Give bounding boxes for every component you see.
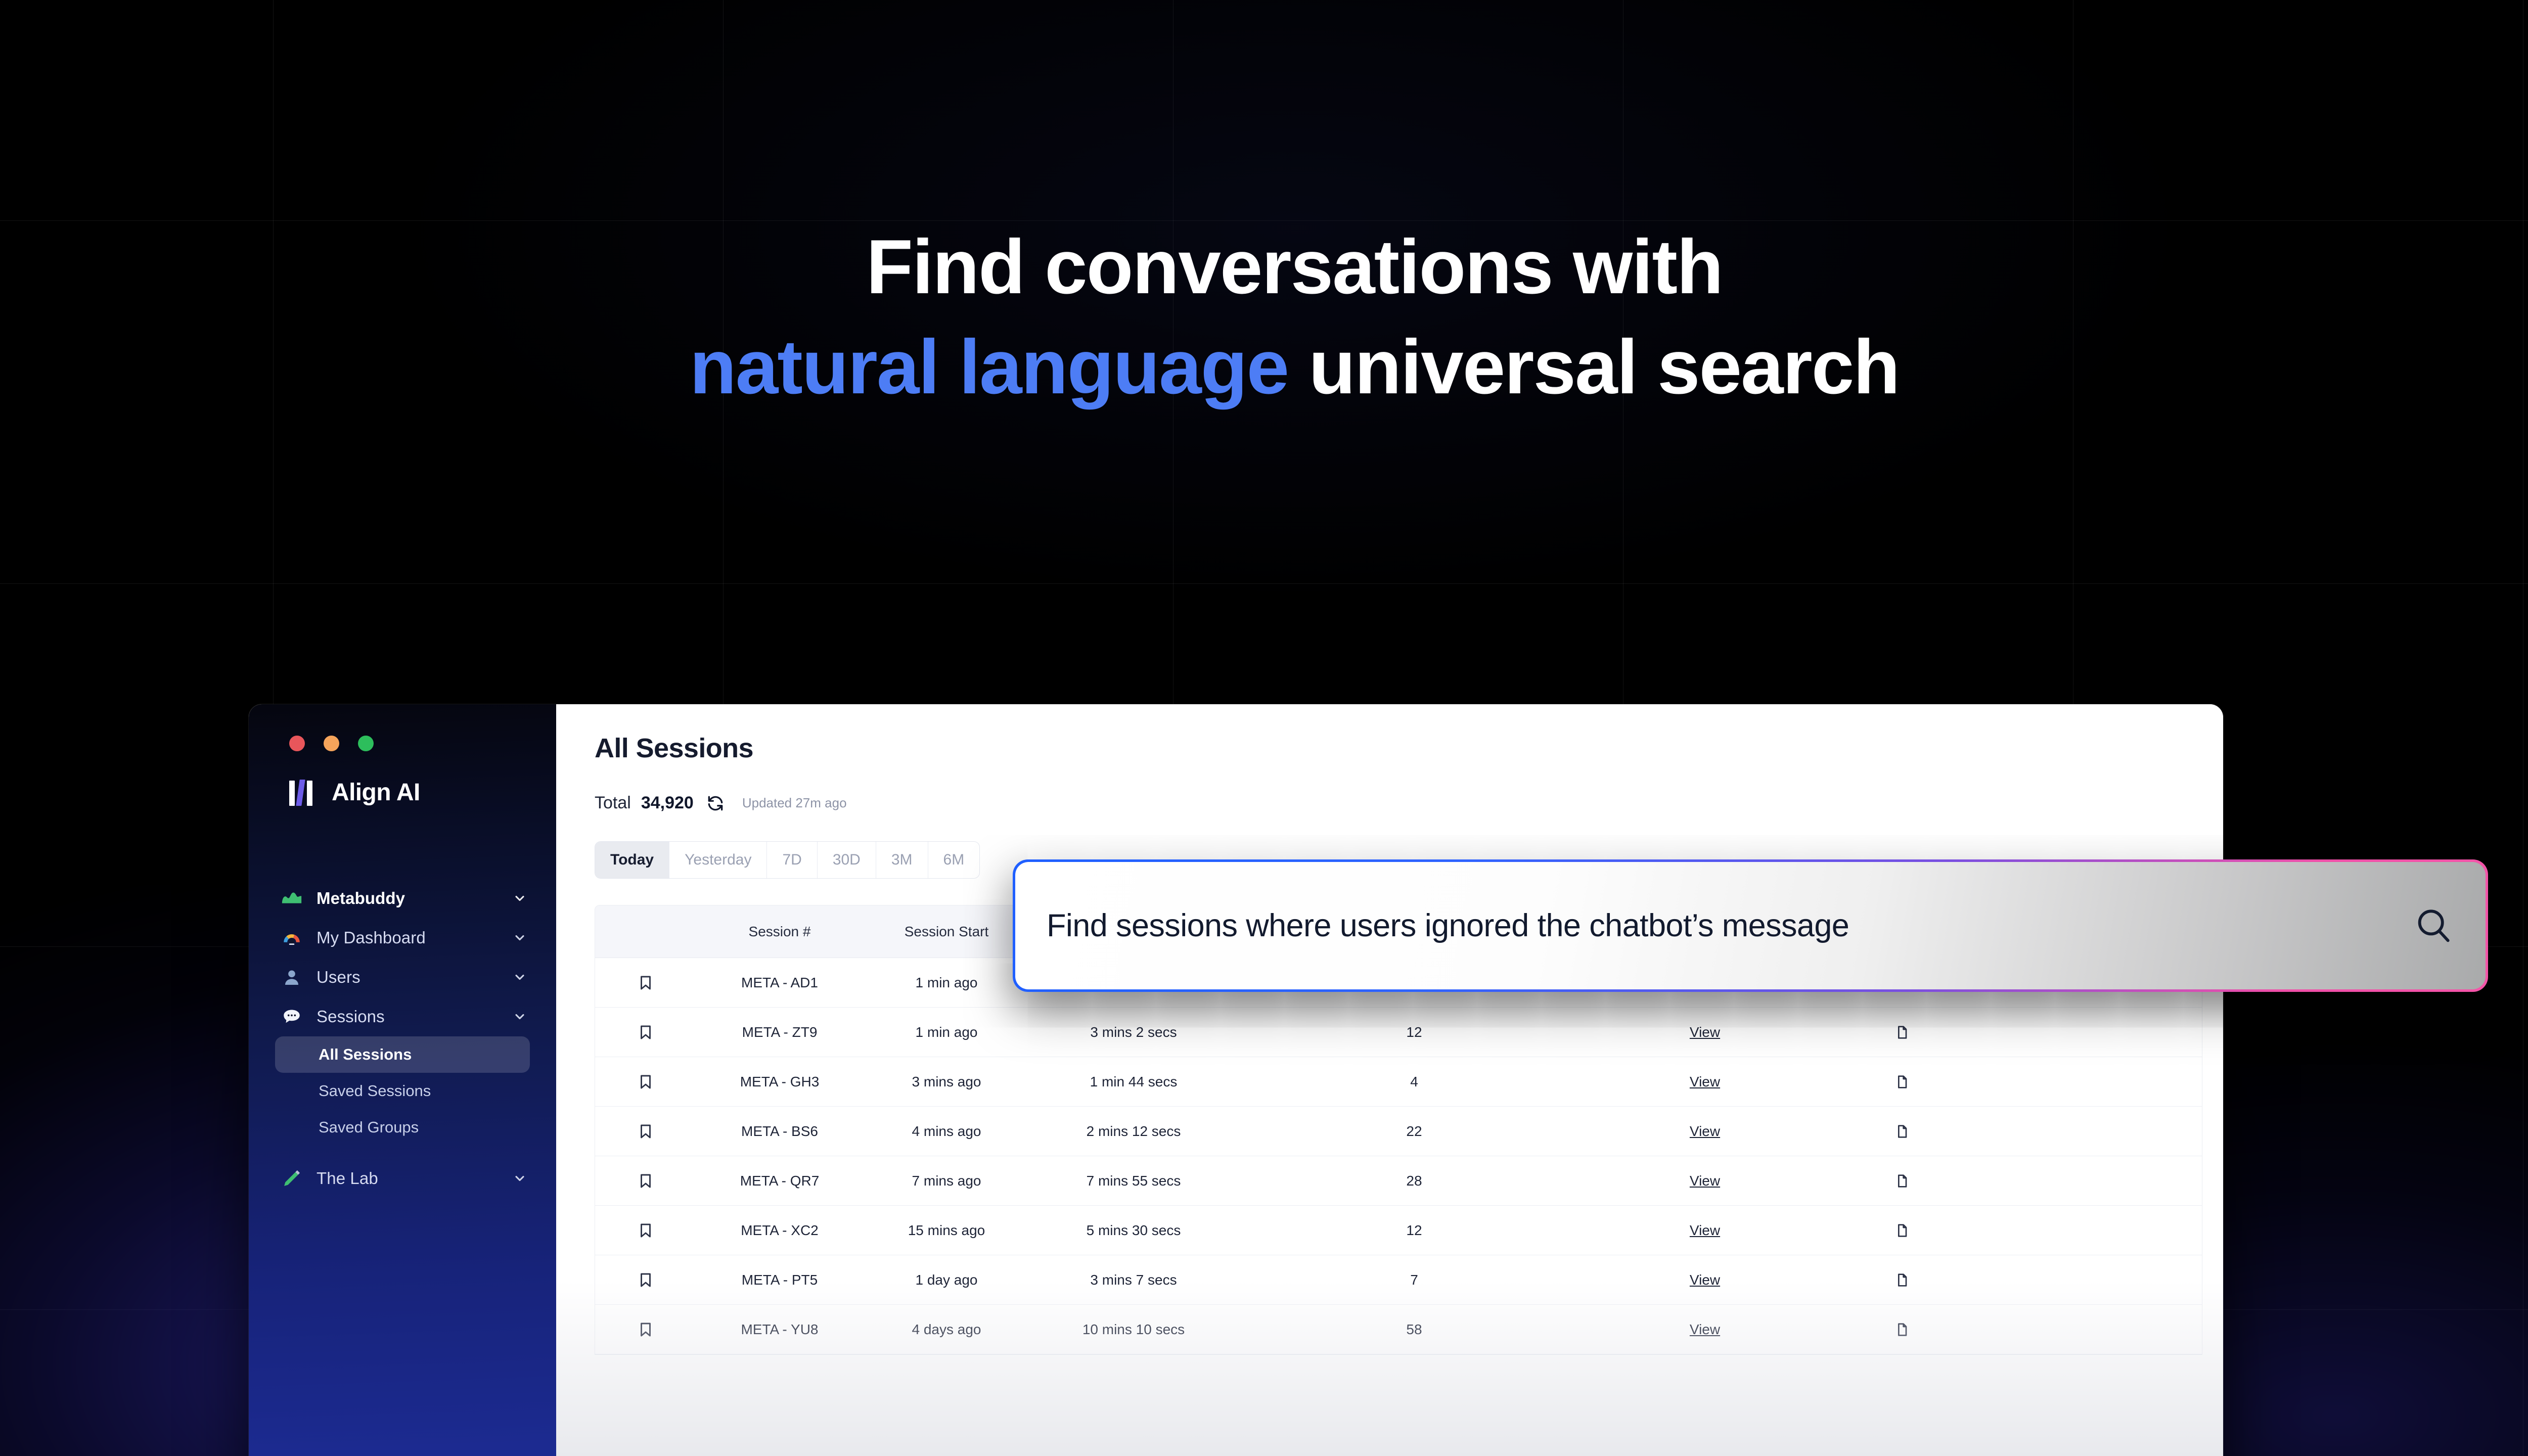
cell-session: META - QR7 — [696, 1173, 863, 1189]
cell-time: 3 mins 2 secs — [1030, 1024, 1237, 1040]
page-title: All Sessions — [595, 733, 2189, 764]
cell-session: META - XC2 — [696, 1222, 863, 1239]
refresh-icon[interactable] — [706, 794, 725, 813]
minimize-window-button[interactable] — [324, 736, 339, 751]
search-input[interactable]: Find sessions where users ignored the ch… — [1047, 907, 2398, 944]
universal-search-bar[interactable]: Find sessions where users ignored the ch… — [1015, 862, 2486, 989]
cell-session: META - BS6 — [696, 1123, 863, 1140]
cell-interactions: 7 — [1237, 1272, 1591, 1288]
cell-time: 5 mins 30 secs — [1030, 1222, 1237, 1239]
bookmark-icon[interactable] — [595, 1172, 696, 1190]
cell-start: 1 min ago — [863, 975, 1030, 991]
tab-label: 7D — [782, 851, 801, 869]
view-summary-link[interactable]: View — [1690, 1074, 1720, 1090]
app-window: Align AI Metabuddy — [249, 704, 2223, 1456]
chevron-down-icon[interactable] — [513, 931, 527, 945]
cell-time: 2 mins 12 secs — [1030, 1123, 1237, 1140]
column-header-session: Session # — [696, 924, 863, 940]
sessions-subnav: All Sessions Saved Sessions Saved Groups — [249, 1036, 556, 1146]
bookmark-icon[interactable] — [595, 1222, 696, 1239]
memo-icon[interactable] — [1819, 1173, 1985, 1189]
table-row[interactable]: META - QR77 mins ago7 mins 55 secs28View — [595, 1156, 2202, 1206]
brand-name: Align AI — [332, 779, 420, 806]
tab-3m[interactable]: 3M — [876, 842, 928, 878]
speech-bubble-icon — [280, 1005, 303, 1028]
cell-session: META - AD1 — [696, 975, 863, 991]
table-row[interactable]: META - ZT91 min ago3 mins 2 secs12View — [595, 1008, 2202, 1057]
subitem-label: Saved Groups — [319, 1118, 419, 1136]
view-summary-link[interactable]: View — [1690, 1272, 1720, 1288]
sidebar-item-label: Users — [317, 968, 500, 987]
total-label: Total — [595, 793, 631, 813]
tab-today[interactable]: Today — [595, 842, 669, 878]
sidebar-item-label: Metabuddy — [317, 889, 500, 908]
memo-icon[interactable] — [1819, 1272, 1985, 1288]
total-value: 34,920 — [641, 793, 694, 813]
maximize-window-button[interactable] — [358, 736, 374, 751]
cell-start: 1 day ago — [863, 1272, 1030, 1288]
cell-interactions: 22 — [1237, 1123, 1591, 1140]
sidebar: Align AI Metabuddy — [249, 704, 556, 1456]
cell-session: META - GH3 — [696, 1074, 863, 1090]
hero-headline-line-2: natural language universal search — [0, 317, 2528, 418]
hero-accent-text: natural language — [690, 324, 1288, 410]
table-row[interactable]: META - BS64 mins ago2 mins 12 secs22View — [595, 1107, 2202, 1156]
tab-label: 30D — [833, 851, 861, 869]
hero-headline-rest: universal search — [1288, 324, 1899, 410]
updated-timestamp: Updated 27m ago — [742, 795, 847, 811]
chevron-down-icon[interactable] — [513, 891, 527, 905]
cell-interactions: 28 — [1237, 1173, 1591, 1189]
sidebar-item-users[interactable]: Users — [249, 958, 556, 997]
user-bust-icon — [280, 966, 303, 989]
cell-session: META - PT5 — [696, 1272, 863, 1288]
tab-yesterday[interactable]: Yesterday — [669, 842, 767, 878]
table-row[interactable]: META - PT51 day ago3 mins 7 secs7View — [595, 1255, 2202, 1305]
universal-search-container: Find sessions where users ignored the ch… — [1013, 859, 2488, 992]
gauge-icon — [280, 926, 303, 949]
cell-time: 1 min 44 secs — [1030, 1074, 1237, 1090]
tab-label: Today — [610, 851, 654, 869]
memo-icon[interactable] — [1819, 1222, 1985, 1239]
brand-logo[interactable]: Align AI — [289, 779, 420, 806]
tab-6m[interactable]: 6M — [928, 842, 980, 878]
cell-time: 3 mins 7 secs — [1030, 1272, 1237, 1288]
cell-start: 7 mins ago — [863, 1173, 1030, 1189]
tab-label: 6M — [943, 851, 965, 869]
column-header-start: Session Start — [863, 924, 1030, 940]
table-row[interactable]: META - GH33 mins ago1 min 44 secs4View — [595, 1057, 2202, 1107]
cell-start: 3 mins ago — [863, 1074, 1030, 1090]
memo-icon[interactable] — [1819, 1123, 1985, 1140]
sidebar-nav: Metabuddy My Dashboard — [249, 879, 556, 1198]
sidebar-item-sessions[interactable]: Sessions — [249, 997, 556, 1036]
view-summary-link[interactable]: View — [1690, 1173, 1720, 1189]
search-icon[interactable] — [2413, 905, 2454, 946]
sidebar-subitem-all-sessions[interactable]: All Sessions — [275, 1036, 530, 1073]
memo-icon[interactable] — [1819, 1024, 1985, 1040]
sidebar-item-my-dashboard[interactable]: My Dashboard — [249, 918, 556, 958]
bookmark-icon[interactable] — [595, 1271, 696, 1289]
close-window-button[interactable] — [289, 736, 305, 751]
sidebar-item-label: My Dashboard — [317, 928, 500, 947]
cell-start: 15 mins ago — [863, 1222, 1030, 1239]
chevron-down-icon[interactable] — [513, 1171, 527, 1186]
sidebar-item-label: Sessions — [317, 1007, 500, 1026]
pencil-icon — [280, 1167, 303, 1190]
subitem-label: Saved Sessions — [319, 1082, 431, 1100]
bookmark-icon[interactable] — [595, 1123, 696, 1140]
cell-time: 7 mins 55 secs — [1030, 1173, 1237, 1189]
table-row[interactable]: META - YU84 days ago10 mins 10 secs58Vie… — [595, 1305, 2202, 1354]
cell-session: META - YU8 — [696, 1322, 863, 1338]
chevron-down-icon[interactable] — [513, 1010, 527, 1024]
sidebar-item-metabuddy[interactable]: Metabuddy — [249, 879, 556, 918]
tab-7d[interactable]: 7D — [767, 842, 817, 878]
align-ai-logo-icon — [289, 780, 319, 806]
cell-interactions: 12 — [1237, 1024, 1591, 1040]
tab-30d[interactable]: 30D — [818, 842, 876, 878]
date-range-tabs: Today Yesterday 7D 30D 3M 6M — [595, 841, 980, 879]
view-summary-link[interactable]: View — [1690, 1024, 1720, 1040]
hero-section: Find conversations with natural language… — [0, 217, 2528, 417]
chart-mountain-icon — [280, 887, 303, 910]
subitem-label: All Sessions — [319, 1045, 412, 1064]
sidebar-subitem-saved-groups[interactable]: Saved Groups — [275, 1109, 530, 1146]
cell-interactions: 58 — [1237, 1322, 1591, 1338]
cell-start: 1 min ago — [863, 1024, 1030, 1040]
cell-start: 4 days ago — [863, 1322, 1030, 1338]
window-traffic-lights — [289, 736, 374, 751]
table-row[interactable]: META - XC215 mins ago5 mins 30 secs12Vie… — [595, 1206, 2202, 1255]
cell-interactions: 4 — [1237, 1074, 1591, 1090]
total-summary: Total 34,920 Updated 27m ago — [595, 793, 2189, 813]
page-root: Find conversations with natural language… — [0, 0, 2528, 1456]
main-panel: All Sessions Total 34,920 Updated 27m ag… — [556, 704, 2223, 1456]
cell-start: 4 mins ago — [863, 1123, 1030, 1140]
memo-icon[interactable] — [1819, 1322, 1985, 1338]
cell-interactions: 12 — [1237, 1222, 1591, 1239]
sidebar-item-label: The Lab — [317, 1169, 500, 1188]
hero-headline-line-1: Find conversations with — [0, 217, 2528, 317]
cell-session: META - ZT9 — [696, 1024, 863, 1040]
bookmark-icon[interactable] — [595, 1073, 696, 1090]
bookmark-icon[interactable] — [595, 1321, 696, 1338]
view-summary-link[interactable]: View — [1690, 1322, 1720, 1338]
view-summary-link[interactable]: View — [1690, 1222, 1720, 1239]
view-summary-link[interactable]: View — [1690, 1123, 1720, 1140]
bookmark-icon[interactable] — [595, 974, 696, 991]
cell-time: 10 mins 10 secs — [1030, 1322, 1237, 1338]
bookmark-icon[interactable] — [595, 1024, 696, 1041]
sidebar-subitem-saved-sessions[interactable]: Saved Sessions — [275, 1073, 530, 1109]
tab-label: 3M — [891, 851, 913, 869]
tab-label: Yesterday — [685, 851, 751, 869]
chevron-down-icon[interactable] — [513, 970, 527, 984]
memo-icon[interactable] — [1819, 1074, 1985, 1090]
table-body: META - AD11 min ago2 mins 37 secs9ViewME… — [595, 958, 2202, 1354]
sidebar-item-the-lab[interactable]: The Lab — [249, 1159, 556, 1198]
